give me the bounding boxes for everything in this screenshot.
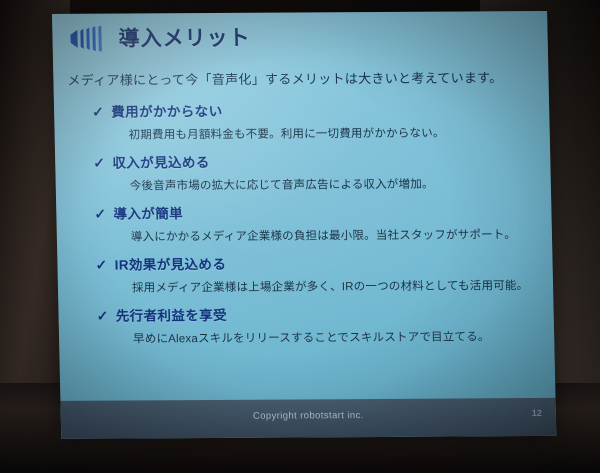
sound-waves-icon — [70, 26, 105, 52]
benefit-heading: 費用がかからない — [111, 100, 223, 121]
slide-body: メディア様にとって今「音声化」するメリットは大きいと考えています。 ✓ 費用がか… — [67, 67, 542, 356]
page-number: 12 — [532, 408, 542, 418]
benefit-heading-row: ✓ IR効果が見込める — [95, 251, 540, 274]
benefit-heading-row: ✓ 先行者利益を享受 — [96, 302, 541, 325]
slide-footer: Copyright robotstart inc. 12 — [60, 398, 556, 439]
benefit-heading: 収入が見込める — [112, 151, 210, 172]
check-icon: ✓ — [92, 105, 104, 119]
copyright-text: Copyright robotstart inc. — [61, 409, 556, 423]
benefit-heading-row: ✓ 収入が見込める — [93, 149, 538, 172]
benefit-description: 初期費用も月額料金も不要。利用に一切費用がかからない。 — [128, 124, 537, 142]
benefit-description: 早めにAlexaスキルをリリースすることでスキルストアで目立てる。 — [133, 328, 542, 346]
projection-screen: 導入メリット メディア様にとって今「音声化」するメリットは大きいと考えています。… — [52, 11, 556, 439]
check-icon: ✓ — [93, 156, 105, 170]
lead-paragraph: メディア様にとって今「音声化」するメリットは大きいと考えています。 — [67, 67, 536, 89]
benefit-description: 導入にかかるメディア企業様の負担は最小限。当社スタッフがサポート。 — [131, 226, 540, 244]
benefit-item-3: ✓ 導入が簡単 導入にかかるメディア企業様の負担は最小限。当社スタッフがサポート… — [70, 200, 540, 245]
check-icon: ✓ — [94, 207, 106, 221]
benefit-heading-row: ✓ 導入が簡単 — [94, 200, 539, 223]
check-icon: ✓ — [95, 258, 107, 272]
benefit-description: 今後音声市場の拡大に応じて音声広告による収入が増加。 — [130, 175, 539, 193]
benefit-description: 採用メディア企業様は上場企業が多く、IRの一つの材料としても活用可能。 — [132, 277, 541, 295]
check-icon: ✓ — [96, 309, 108, 323]
slide-title: 導入メリット — [118, 27, 250, 49]
presentation-slide: 導入メリット メディア様にとって今「音声化」するメリットは大きいと考えています。… — [52, 11, 556, 439]
benefit-heading-row: ✓ 費用がかからない — [92, 98, 537, 121]
benefit-heading: 導入が簡単 — [113, 202, 183, 222]
benefit-item-5: ✓ 先行者利益を享受 早めにAlexaスキルをリリースすることでスキルストアで目… — [72, 302, 542, 347]
benefit-heading: IR効果が見込める — [114, 253, 226, 274]
benefit-heading: 先行者利益を享受 — [115, 304, 227, 325]
benefit-item-1: ✓ 費用がかからない 初期費用も月額料金も不要。利用に一切費用がかからない。 — [68, 98, 538, 143]
slide-header: 導入メリット — [70, 25, 251, 52]
benefit-item-2: ✓ 収入が見込める 今後音声市場の拡大に応じて音声広告による収入が増加。 — [69, 149, 539, 194]
photographed-slide-scene: 導入メリット メディア様にとって今「音声化」するメリットは大きいと考えています。… — [0, 0, 600, 473]
benefit-item-4: ✓ IR効果が見込める 採用メディア企業様は上場企業が多く、IRの一つの材料とし… — [71, 251, 541, 296]
